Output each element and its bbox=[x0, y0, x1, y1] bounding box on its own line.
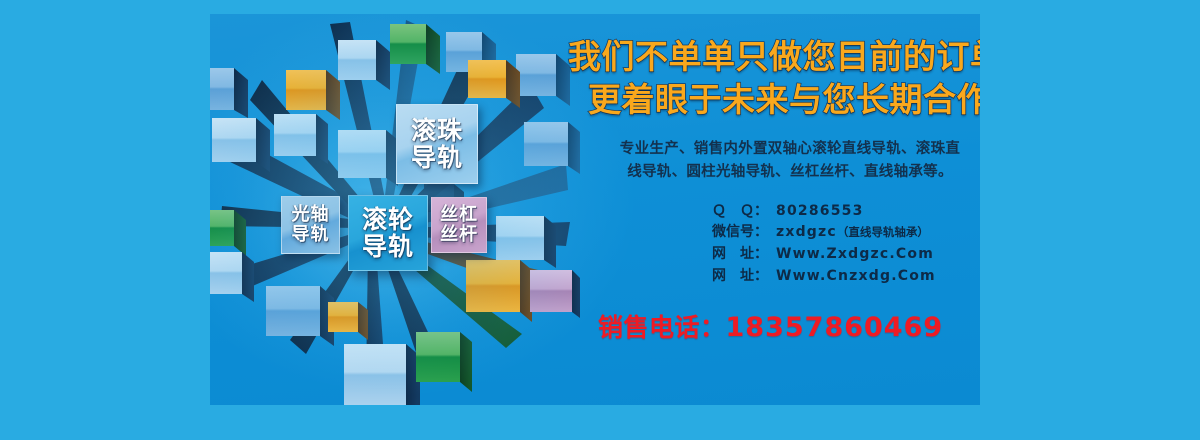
product-box-sigang-sigan[interactable]: 丝杠 丝杆 bbox=[431, 197, 487, 253]
banner-copy-column: 我们不单单只做您目前的订单 更着眼于未来与您长期合作 专业生产、销售内外置双轴心… bbox=[554, 36, 974, 344]
contact-note-wechat: （直线导轨轴承） bbox=[837, 224, 929, 242]
product-box-line2: 丝杆 bbox=[440, 226, 478, 244]
contact-row-wechat: 微信号： zxdgzc （直线导轨轴承） bbox=[712, 222, 974, 244]
business-description: 专业生产、销售内外置双轴心滚轮直线导轨、滚珠直线导轨、圆柱光轴导轨、丝杠丝杆、直… bbox=[614, 138, 966, 185]
contact-label: Ｑ Ｑ： bbox=[712, 201, 776, 223]
contact-value-qq[interactable]: 80286553 bbox=[776, 201, 864, 223]
product-box-gunzhu-daogui[interactable]: 滚珠 导轨 bbox=[396, 104, 478, 184]
contact-row-website-2: 网 址： Www.Cnzxdg.Com bbox=[712, 266, 974, 288]
headline-line-1: 我们不单单只做您目前的订单 bbox=[568, 36, 974, 79]
headline-line-2: 更着眼于未来与您长期合作 bbox=[588, 79, 974, 122]
sales-phone-number[interactable]: 18357860469 bbox=[726, 312, 944, 343]
contact-value-website-2[interactable]: Www.Cnzxdg.Com bbox=[776, 266, 936, 288]
contact-row-qq: Ｑ Ｑ： 80286553 bbox=[712, 201, 974, 223]
product-box-line2: 导轨 bbox=[411, 145, 463, 171]
contact-row-website-1: 网 址： Www.Zxdgzc.Com bbox=[712, 244, 974, 266]
product-box-guangzhou-daogui[interactable]: 光轴 导轨 bbox=[281, 196, 340, 254]
product-box-line2: 导轨 bbox=[292, 226, 330, 244]
product-box-gunlun-daogui[interactable]: 滚轮 导轨 bbox=[348, 195, 428, 271]
contact-label: 网 址： bbox=[712, 244, 776, 266]
product-box-line1: 滚轮 bbox=[362, 207, 414, 233]
product-box-line1: 滚珠 bbox=[411, 118, 463, 144]
contact-info-block: Ｑ Ｑ： 80286553 微信号： zxdgzc （直线导轨轴承） 网 址： … bbox=[712, 201, 974, 288]
sales-phone-line[interactable]: 销售电话：18357860469 bbox=[598, 308, 974, 344]
contact-label: 网 址： bbox=[712, 266, 776, 288]
product-box-line2: 导轨 bbox=[362, 234, 414, 260]
banner-inner-panel: 滚珠 导轨 光轴 导轨 滚轮 导轨 丝杠 丝杆 我们不单单只做您目前的订单 bbox=[210, 14, 980, 405]
sales-phone-label: 销售电话： bbox=[598, 313, 726, 342]
product-box-line1: 光轴 bbox=[292, 206, 330, 224]
contact-value-wechat[interactable]: zxdgzc bbox=[776, 222, 837, 244]
product-box-line1: 丝杠 bbox=[440, 206, 478, 224]
banner-root: 滚珠 导轨 光轴 导轨 滚轮 导轨 丝杠 丝杆 我们不单单只做您目前的订单 bbox=[0, 0, 1200, 440]
contact-value-website-1[interactable]: Www.Zxdgzc.Com bbox=[776, 244, 934, 266]
contact-label: 微信号： bbox=[712, 222, 776, 244]
